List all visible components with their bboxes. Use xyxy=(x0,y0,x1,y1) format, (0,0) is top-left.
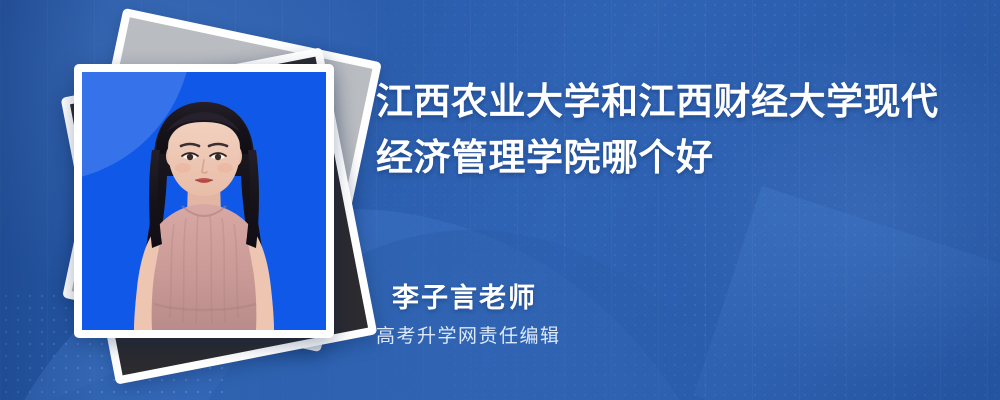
page-title: 江西农业大学和江西财经大学现代 经济管理学院哪个好 xyxy=(376,74,956,186)
photo-stack xyxy=(48,36,348,356)
portrait-photo-icon xyxy=(82,72,326,330)
promo-banner: 江西农业大学和江西财经大学现代 经济管理学院哪个好 李子言老师 高考升学网责任编… xyxy=(0,0,1000,400)
portrait-photo-frame xyxy=(74,64,334,338)
page-title-line-1: 江西农业大学和江西财经大学现代 xyxy=(376,81,939,122)
author-name: 李子言老师 xyxy=(392,276,537,315)
text-column: 江西农业大学和江西财经大学现代 经济管理学院哪个好 李子言老师 高考升学网责任编… xyxy=(376,0,976,400)
author-role: 高考升学网责任编辑 xyxy=(376,321,561,348)
page-title-line-2: 经济管理学院哪个好 xyxy=(376,137,714,178)
